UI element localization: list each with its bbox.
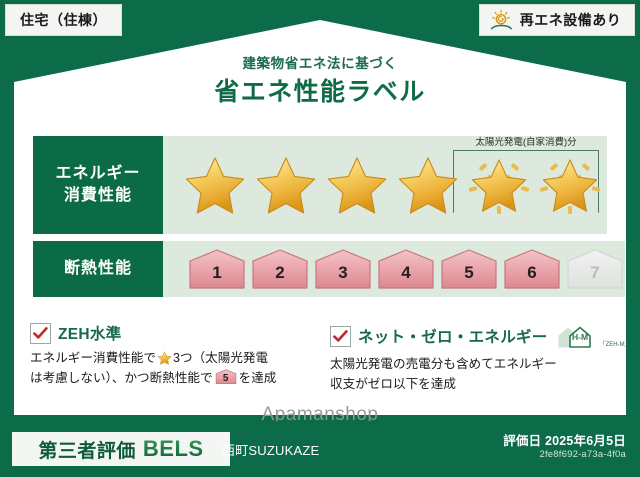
title-block: 建築物省エネ法に基づく 省エネ性能ラベル: [0, 56, 640, 107]
building-name: 西町SUZUKAZE: [222, 440, 319, 459]
grade-number: 5: [439, 248, 499, 290]
note-zeh-standard: ZEH水準 エネルギー消費性能で3つ（太陽光発電は考慮しない）、かつ断熱性能で5…: [30, 322, 315, 388]
footer-bar: 第三者評価 BELS 西町SUZUKAZE 評価日 2025年6月5日 2fe8…: [0, 421, 640, 477]
star-icon: [394, 150, 462, 220]
badge-renewable-label: 再エネ設備あり: [520, 10, 622, 30]
star-icon: [323, 150, 391, 220]
grade-number: 2: [250, 248, 310, 290]
sparkle-icon: [465, 150, 533, 220]
star-icon: [181, 150, 249, 220]
zeh-m-caption: 「ZEH-M」: [600, 339, 631, 350]
row-energy-label: エネルギー 消費性能: [33, 136, 163, 234]
note-zeh-body: エネルギー消費性能で3つ（太陽光発電は考慮しない）、かつ断熱性能で5を達成: [30, 349, 315, 388]
row-energy-gauge: 太陽光発電(自家消費)分: [163, 136, 607, 234]
star-icon: [252, 150, 320, 220]
house-grade-icon: 2: [250, 248, 310, 290]
svg-text:H-M: H-M: [572, 332, 588, 342]
note-zeh-text-4: を達成: [239, 371, 277, 385]
house-grade-icon: 6: [502, 248, 562, 290]
bels-logo-jp: 第三者評価: [38, 436, 136, 463]
note-nze-title: ネット・ゼロ・エネルギー: [358, 325, 548, 347]
house-grade-icon: 4: [376, 248, 436, 290]
solar-annotation-label: 太陽光発電(自家消費)分: [453, 138, 599, 148]
grade-number: 1: [187, 248, 247, 290]
row-energy-label-line2: 消費性能: [64, 185, 132, 207]
house-grade-icon: 3: [313, 248, 373, 290]
house-grade-icon: 7: [565, 248, 625, 290]
note-nze-line1: 太陽光発電の売電分も含めてエネルギー: [330, 357, 557, 371]
note-zeh-header: ZEH水準: [30, 322, 315, 344]
row-energy-label-line1: エネルギー: [55, 163, 140, 185]
grade-number: 7: [565, 248, 625, 290]
star-icon: [157, 351, 172, 365]
house-grade-icon: 5: [215, 369, 237, 386]
label-subtitle: 建築物省エネ法に基づく: [0, 56, 640, 72]
note-zeh-title: ZEH水準: [58, 322, 122, 344]
grade-number: 5: [215, 369, 237, 386]
bels-logo-en: BELS: [143, 436, 204, 462]
energy-star-rating: [181, 150, 604, 220]
note-nze-body: 太陽光発電の売電分も含めてエネルギー 収支がゼロ以下を達成: [330, 355, 620, 394]
grade-number: 3: [313, 248, 373, 290]
house-grade-icon: 1: [187, 248, 247, 290]
check-icon: [330, 326, 351, 347]
grade-number: 6: [502, 248, 562, 290]
badge-dwelling-type: 住宅（住棟）: [5, 4, 122, 36]
row-insulation-label: 断熱性能: [33, 241, 163, 297]
note-zeh-text-2: 3つ（太陽光発電: [173, 351, 268, 365]
badge-renewable-equipment: 再エネ設備あり: [479, 4, 635, 36]
sparkle-icon: [536, 150, 604, 220]
note-zeh-text-1: エネルギー消費性能で: [30, 351, 156, 365]
note-nze-header: ネット・ゼロ・エネルギー H-M 「ZEH-M」: [330, 322, 620, 350]
insulation-grade-scale: 1 2 3 4: [187, 248, 625, 290]
check-icon: [30, 323, 51, 344]
bels-logo: 第三者評価 BELS: [12, 432, 230, 466]
evaluation-id: 2fe8f692-a73a-4f0a: [539, 449, 626, 460]
note-zeh-text-3: は考慮しない）、かつ断熱性能で: [30, 371, 213, 385]
sun-icon: [489, 8, 515, 32]
evaluation-date: 評価日 2025年6月5日: [503, 430, 626, 449]
row-insulation-gauge: 1 2 3 4: [163, 241, 625, 297]
house-grade-icon: 5: [439, 248, 499, 290]
grade-number: 4: [376, 248, 436, 290]
note-net-zero-energy: ネット・ゼロ・エネルギー H-M 「ZEH-M」 太陽光発電の売電分も含めてエネ…: [330, 322, 620, 394]
row-insulation-performance: 断熱性能: [33, 241, 607, 297]
row-energy-performance: エネルギー 消費性能 太陽光発電(自家消費)分: [33, 136, 607, 234]
row-insulation-label-text: 断熱性能: [64, 258, 132, 280]
energy-label-card: 住宅（住棟） 再エネ設備あり 建築物省エネ法に基づく 省エネ性能ラベル エネルギ…: [0, 0, 640, 477]
badge-dwelling-label: 住宅（住棟）: [20, 10, 107, 30]
note-nze-line2: 収支がゼロ以下を達成: [330, 377, 456, 391]
zeh-m-logo: H-M 「ZEH-M」: [555, 322, 631, 350]
page-title: 省エネ性能ラベル: [0, 78, 640, 107]
